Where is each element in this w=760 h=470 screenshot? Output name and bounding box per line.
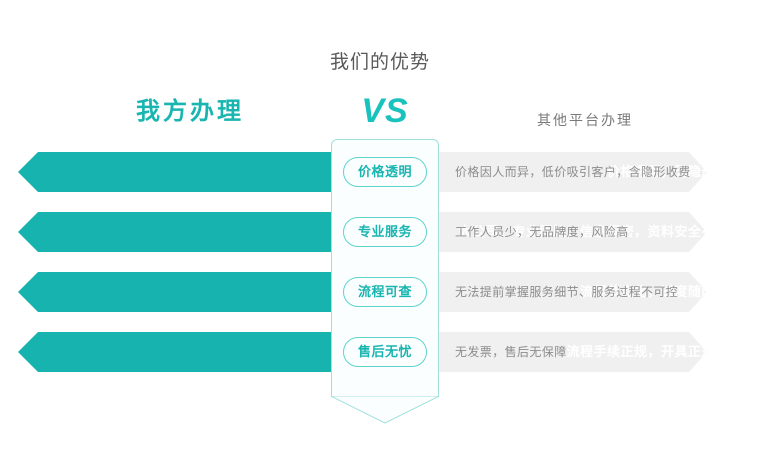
others-text: 工作人员少，无品牌度，风险高 bbox=[455, 212, 629, 252]
feature-tag[interactable]: 价格透明 bbox=[343, 157, 427, 187]
versus-label: VS bbox=[330, 92, 440, 130]
ours-band bbox=[18, 332, 338, 372]
others-text: 价格因人而异，低价吸引客户，含隐形收费 bbox=[455, 152, 691, 192]
comparison-row: 大公司，专业团队，信息保密，资料安全有保障 专业服务 工作人员少，无品牌度，风险… bbox=[0, 212, 760, 252]
comparison-row: 流程节点化，进度随时可查 流程可查 无法提前掌握服务细节、服务过程不可控 bbox=[0, 272, 760, 312]
comparison-infographic: 我们的优势 我方办理 VS 其他平台办理 价格透明，无隐形收费 价格透明 价格因… bbox=[0, 0, 760, 470]
feature-tag[interactable]: 专业服务 bbox=[343, 217, 427, 247]
feature-tag[interactable]: 流程可查 bbox=[343, 277, 427, 307]
center-panel-tip-icon bbox=[331, 396, 439, 424]
others-text: 无发票，售后无保障 bbox=[455, 332, 567, 372]
feature-tag[interactable]: 售后无忧 bbox=[343, 337, 427, 367]
ours-band bbox=[18, 272, 338, 312]
page-title: 我们的优势 bbox=[0, 50, 760, 76]
comparison-row: 价格透明，无隐形收费 价格透明 价格因人而异，低价吸引客户，含隐形收费 bbox=[0, 152, 760, 192]
ours-band bbox=[18, 152, 338, 192]
column-header-ours: 我方办理 bbox=[60, 96, 320, 128]
ours-band bbox=[18, 212, 338, 252]
column-header-others: 其他平台办理 bbox=[460, 110, 710, 130]
others-text: 无法提前掌握服务细节、服务过程不可控 bbox=[455, 272, 678, 312]
ours-text: 流程手续正规，开具正规发票 bbox=[566, 332, 742, 372]
comparison-row: 流程手续正规，开具正规发票 售后无忧 无发票，售后无保障 bbox=[0, 332, 760, 372]
